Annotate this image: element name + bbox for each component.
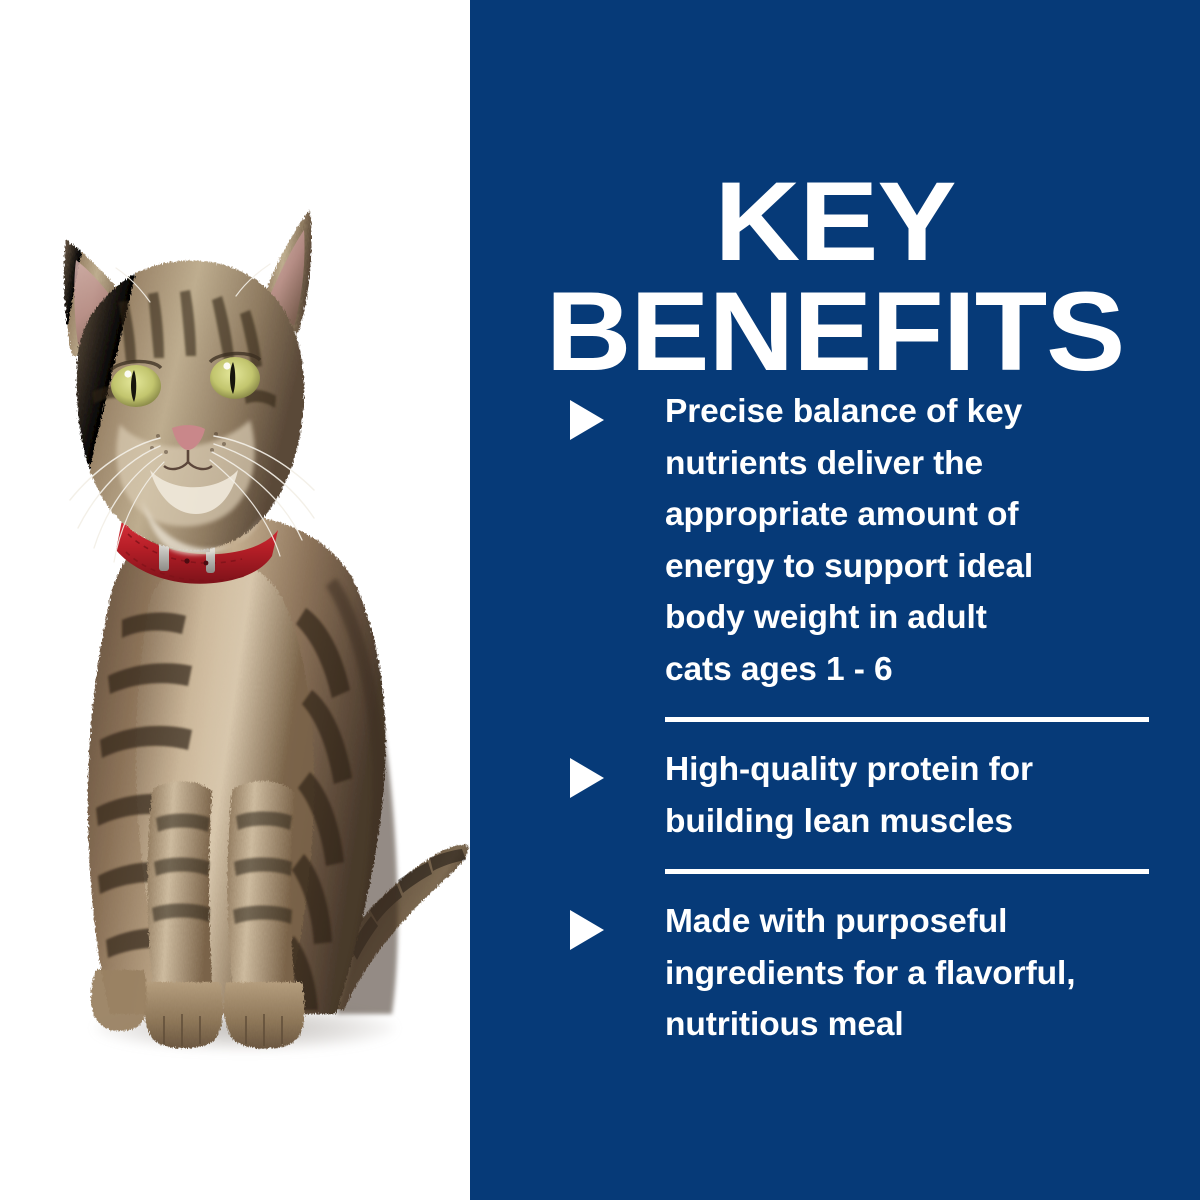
cat-head: [64, 210, 312, 555]
triangle-right-icon: [570, 758, 604, 798]
benefit-divider-2: [665, 869, 1149, 874]
benefit-text-2: High-quality protein for building lean m…: [665, 744, 1170, 847]
benefits-list: Precise balance of key nutrients deliver…: [470, 386, 1200, 1051]
benefit-item-1: Precise balance of key nutrients deliver…: [470, 386, 1200, 695]
triangle-right-icon: [570, 910, 604, 950]
page-title: KEY BENEFITS: [448, 167, 1200, 387]
triangle-right-icon: [570, 400, 604, 440]
marketing-banner: KEY BENEFITS Precise balance of key nutr…: [0, 0, 1200, 1200]
benefit-item-3: Made with purposeful ingredients for a f…: [470, 896, 1200, 1051]
cat-photo: [0, 0, 470, 1200]
product-image-panel: [0, 0, 470, 1200]
benefit-text-3: Made with purposeful ingredients for a f…: [665, 896, 1170, 1051]
benefit-divider-1: [665, 717, 1149, 722]
key-benefits-panel: KEY BENEFITS Precise balance of key nutr…: [470, 0, 1200, 1200]
benefit-item-2: High-quality protein for building lean m…: [470, 744, 1200, 847]
benefit-text-1: Precise balance of key nutrients deliver…: [665, 386, 1170, 695]
